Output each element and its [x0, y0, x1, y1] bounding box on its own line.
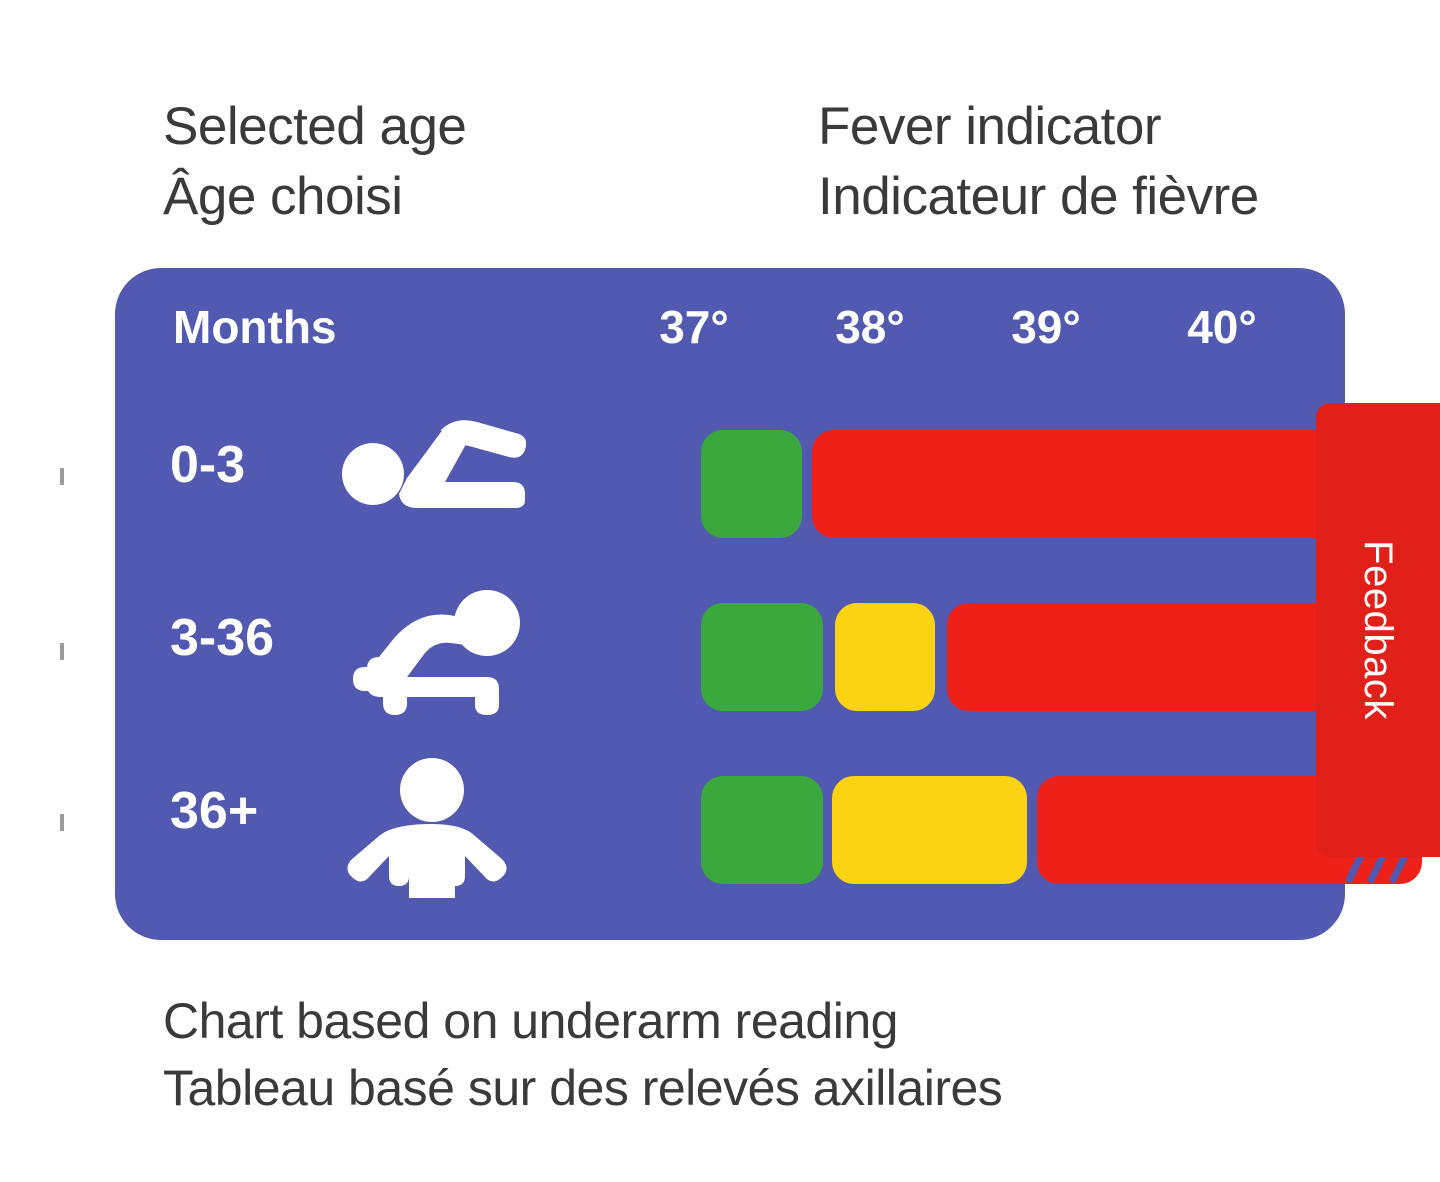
age-label-36-plus: 36+: [170, 781, 258, 841]
chart-headers: Selected age Âge choisi Fever indicator …: [0, 92, 1440, 242]
bar-track-3-36: [585, 581, 1345, 731]
footnote-line-en: Chart based on underarm reading: [163, 993, 898, 1049]
fever-chart-card: Months 37° 38° 39° 40° 0-3: [115, 268, 1345, 940]
bar-segment-normal: [701, 430, 802, 538]
bar-track-0-3: [585, 408, 1345, 558]
age-row-36-plus: 36+: [115, 754, 1345, 904]
age-label-3-36: 3-36: [170, 608, 274, 668]
fever-indicator-label-en: Fever indicator: [818, 97, 1161, 156]
bar-segment-caution: [832, 776, 1027, 884]
footnote-line-fr: Tableau basé sur des relevés axillaires: [163, 1060, 1002, 1116]
fever-indicator-label-fr: Indicateur de fièvre: [818, 162, 1259, 232]
chart-footnote: Chart based on underarm reading Tableau …: [163, 988, 1002, 1122]
months-column-label: Months: [173, 300, 337, 354]
temp-tick-37: 37°: [629, 300, 759, 354]
bar-segment-normal: [701, 603, 823, 711]
temp-tick-40: 40°: [1157, 300, 1287, 354]
selected-age-header: Selected age Âge choisi: [163, 92, 466, 232]
child-standing-icon: [337, 758, 527, 898]
age-row-0-3: 0-3: [115, 408, 1345, 558]
temp-tick-38: 38°: [805, 300, 935, 354]
feedback-tab-label[interactable]: Feedback: [1316, 403, 1440, 857]
row-tick-mark: [60, 468, 64, 485]
selected-age-label-fr: Âge choisi: [163, 162, 466, 232]
temp-tick-39: 39°: [981, 300, 1111, 354]
row-tick-mark: [60, 814, 64, 831]
bar-segment-caution: [835, 603, 935, 711]
selected-age-label-en: Selected age: [163, 97, 466, 156]
age-row-3-36: 3-36: [115, 581, 1345, 731]
bar-track-36-plus: [585, 754, 1345, 904]
baby-lying-icon: [337, 412, 527, 552]
age-label-0-3: 0-3: [170, 435, 245, 495]
baby-crawling-icon: [337, 585, 527, 725]
bar-segment-normal: [701, 776, 823, 884]
temperature-scale-header: Months 37° 38° 39° 40°: [115, 268, 1345, 378]
feedback-tab[interactable]: Feedback: [1316, 403, 1440, 857]
row-tick-mark: [60, 643, 64, 660]
fever-indicator-header: Fever indicator Indicateur de fièvre: [818, 92, 1259, 232]
